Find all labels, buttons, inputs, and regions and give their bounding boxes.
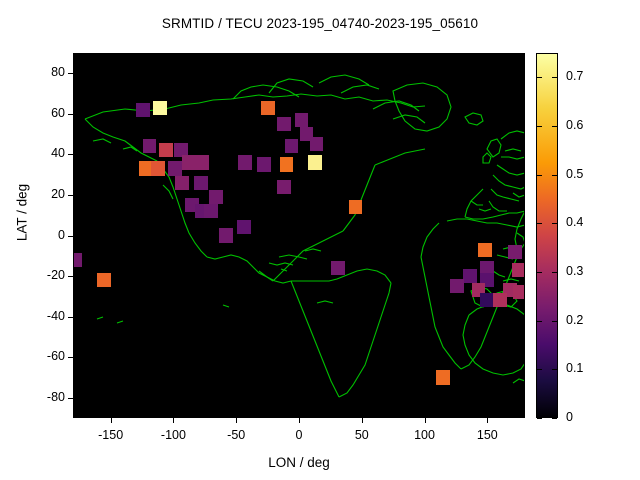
colorbar-tick-label: 0.3 (566, 264, 606, 278)
y-tick-label: 80 (11, 65, 65, 79)
colorbar-tick (552, 175, 557, 176)
x-tick-label: -150 (81, 428, 141, 442)
y-tick (68, 317, 73, 318)
colorbar-tick (537, 272, 542, 273)
colorbar-tick (552, 126, 557, 127)
y-tick-label: 40 (11, 146, 65, 160)
data-cell (168, 161, 182, 175)
data-cell (331, 261, 345, 275)
data-cell (237, 220, 251, 234)
colorbar-tick-label: 0 (566, 410, 606, 424)
x-tick-label: -50 (206, 428, 266, 442)
colorbar-tick-label: 0.1 (566, 361, 606, 375)
y-tick (68, 195, 73, 196)
colorbar-tick (552, 418, 557, 419)
x-tick (487, 418, 488, 423)
colorbar-tick-label: 0.7 (566, 69, 606, 83)
y-tick-label: 0 (11, 228, 65, 242)
y-tick-label: -80 (11, 390, 65, 404)
colorbar-tick (552, 321, 557, 322)
x-tick (236, 418, 237, 423)
data-cell (136, 103, 150, 117)
data-cell (204, 204, 218, 218)
data-cell (478, 243, 492, 257)
x-tick (299, 418, 300, 423)
y-tick (68, 154, 73, 155)
data-cell (310, 137, 324, 151)
data-cell (285, 139, 299, 153)
colorbar-tick (552, 272, 557, 273)
colorbar-tick (552, 77, 557, 78)
y-tick-label: -40 (11, 309, 65, 323)
colorbar-tick-label: 0.5 (566, 167, 606, 181)
data-cell (261, 101, 275, 115)
y-tick (68, 114, 73, 115)
x-axis-title: LON / deg (0, 455, 598, 470)
y-tick (68, 73, 73, 74)
y-tick-label: 20 (11, 187, 65, 201)
data-cell (143, 139, 157, 153)
data-cell (257, 157, 271, 171)
colorbar-tick-label: 0.4 (566, 215, 606, 229)
data-cell (295, 113, 309, 127)
data-cell (73, 253, 82, 267)
data-cell (463, 269, 477, 283)
data-cell (151, 161, 165, 175)
data-cell (450, 279, 464, 293)
data-cell (513, 285, 525, 299)
data-cell (277, 180, 291, 194)
x-tick-label: 100 (395, 428, 455, 442)
colorbar-tick (552, 223, 557, 224)
x-tick-label: 0 (269, 428, 329, 442)
colorbar-tick (537, 126, 542, 127)
colorbar-tick-label: 0.6 (566, 118, 606, 132)
chart-title: SRMTID / TECU 2023-195_04740-2023-195_05… (0, 16, 640, 31)
x-tick (111, 418, 112, 423)
colorbar-tick (537, 321, 542, 322)
data-cell (512, 263, 525, 277)
y-tick (68, 276, 73, 277)
colorbar-tick-label: 0.2 (566, 313, 606, 327)
y-tick (68, 357, 73, 358)
data-cell (493, 293, 507, 307)
y-tick-label: -20 (11, 268, 65, 282)
y-tick-label: -60 (11, 349, 65, 363)
y-axis-title: LAT / deg (15, 153, 30, 273)
data-cell (508, 245, 522, 259)
y-tick-label: 60 (11, 106, 65, 120)
x-tick (362, 418, 363, 423)
y-tick (68, 236, 73, 237)
colorbar-tick (537, 369, 542, 370)
data-cell (175, 176, 189, 190)
x-tick (173, 418, 174, 423)
data-cell (436, 370, 450, 384)
colorbar-tick (537, 77, 542, 78)
x-tick-label: -100 (143, 428, 203, 442)
data-cell (349, 200, 363, 214)
colorbar (536, 53, 558, 418)
colorbar-tick (537, 175, 542, 176)
data-cell (219, 228, 233, 242)
data-cell (97, 273, 111, 287)
figure-canvas: SRMTID / TECU 2023-195_04740-2023-195_05… (0, 0, 640, 480)
data-cell (280, 157, 294, 171)
data-cell (153, 101, 167, 115)
y-tick (68, 398, 73, 399)
colorbar-tick (537, 418, 542, 419)
x-tick (425, 418, 426, 423)
data-cell (195, 155, 209, 169)
data-cell (159, 143, 173, 157)
data-cell (194, 176, 208, 190)
data-cell (238, 155, 252, 169)
map-plot-area (73, 53, 525, 418)
data-cell (182, 155, 196, 169)
data-cell (277, 117, 291, 131)
colorbar-tick (537, 223, 542, 224)
x-tick-label: 150 (457, 428, 517, 442)
data-cell (308, 155, 322, 169)
colorbar-tick (552, 369, 557, 370)
x-tick-label: 50 (332, 428, 392, 442)
data-cell (209, 190, 223, 204)
